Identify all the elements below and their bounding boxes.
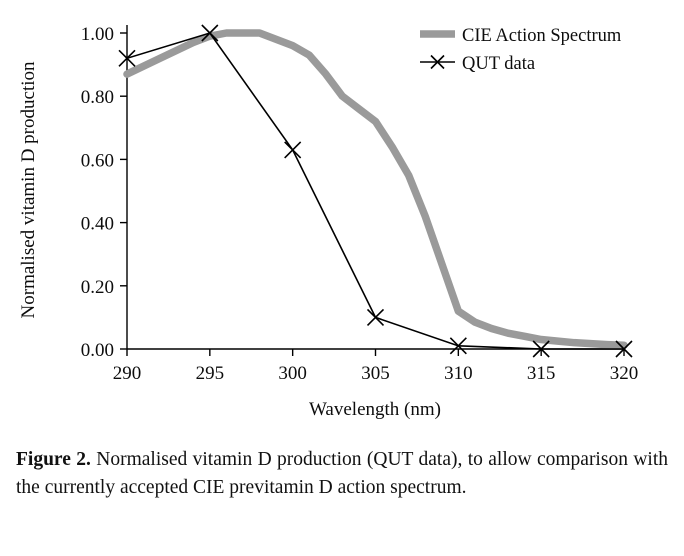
x-axis-tick-label: 300: [278, 363, 307, 384]
y-axis-tick-label: 1.00: [81, 24, 114, 45]
figure-caption-label: Figure 2.: [16, 449, 91, 470]
figure-2-container: 0.000.200.400.600.801.00 290295300305310…: [0, 0, 684, 556]
y-axis-tick-label: 0.00: [81, 340, 114, 361]
x-axis-tick-label: 295: [196, 363, 225, 384]
figure-caption-text: Normalised vitamin D production (QUT dat…: [16, 449, 668, 498]
y-axis-tick-label: 0.80: [81, 87, 114, 108]
x-axis-title: Wavelength (nm): [309, 399, 441, 420]
figure-caption: Figure 2. Normalised vitamin D productio…: [16, 446, 668, 501]
line-chart: 0.000.200.400.600.801.00 290295300305310…: [0, 0, 684, 436]
y-axis-tick-label: 0.20: [81, 277, 114, 298]
x-axis-tick-label: 310: [444, 363, 473, 384]
y-axis-title: Normalised vitamin D production: [18, 61, 39, 318]
y-axis-tick-label: 0.40: [81, 214, 114, 235]
legend-label-qut-data: QUT data: [462, 54, 535, 74]
y-axis-tick-label: 0.60: [81, 150, 114, 171]
x-axis-tick-label: 290: [113, 363, 142, 384]
x-axis-tick-label: 320: [610, 363, 639, 384]
x-axis-tick-label: 315: [527, 363, 556, 384]
x-axis-tick-label: 305: [361, 363, 390, 384]
legend-label-cie-action-spectrum: CIE Action Spectrum: [462, 26, 622, 46]
chart-area: 0.000.200.400.600.801.00 290295300305310…: [0, 0, 684, 436]
